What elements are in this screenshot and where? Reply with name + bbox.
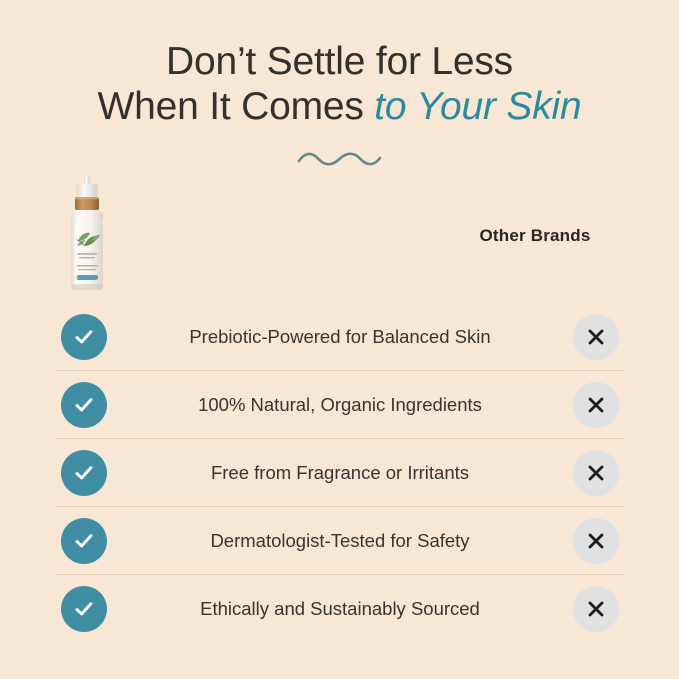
table-row: Dermatologist-Tested for Safety (55, 506, 625, 574)
headline-line-1: Don’t Settle for Less (0, 40, 679, 85)
comparison-infographic: Don’t Settle for Less When It Comes to Y… (0, 0, 679, 679)
comparison-table: Prebiotic-Powered for Balanced Skin 100%… (55, 303, 625, 642)
headline-line-2-plain: When It Comes (98, 85, 375, 128)
table-row: 100% Natural, Organic Ingredients (55, 370, 625, 438)
row-label: Dermatologist-Tested for Safety (107, 530, 573, 552)
cross-icon (573, 450, 619, 496)
page-title: Don’t Settle for Less When It Comes to Y… (0, 40, 679, 130)
row-label: Prebiotic-Powered for Balanced Skin (107, 326, 573, 348)
check-icon (61, 314, 107, 360)
check-icon (61, 586, 107, 632)
cross-icon (573, 382, 619, 428)
wavy-squiggle-icon (297, 148, 382, 170)
headline-accent: to Your Skin (374, 85, 581, 128)
row-label: Ethically and Sustainably Sourced (107, 598, 573, 620)
cross-icon (573, 314, 619, 360)
cross-icon (573, 586, 619, 632)
product-bottle-image (64, 175, 110, 293)
check-icon (61, 518, 107, 564)
check-icon (61, 382, 107, 428)
table-row: Ethically and Sustainably Sourced (55, 574, 625, 642)
column-header-other-brands: Other Brands (430, 226, 640, 246)
row-label: Free from Fragrance or Irritants (107, 462, 573, 484)
row-label: 100% Natural, Organic Ingredients (107, 394, 573, 416)
check-icon (61, 450, 107, 496)
cross-icon (573, 518, 619, 564)
table-row: Prebiotic-Powered for Balanced Skin (55, 303, 625, 370)
headline-line-2: When It Comes to Your Skin (0, 85, 679, 130)
table-row: Free from Fragrance or Irritants (55, 438, 625, 506)
